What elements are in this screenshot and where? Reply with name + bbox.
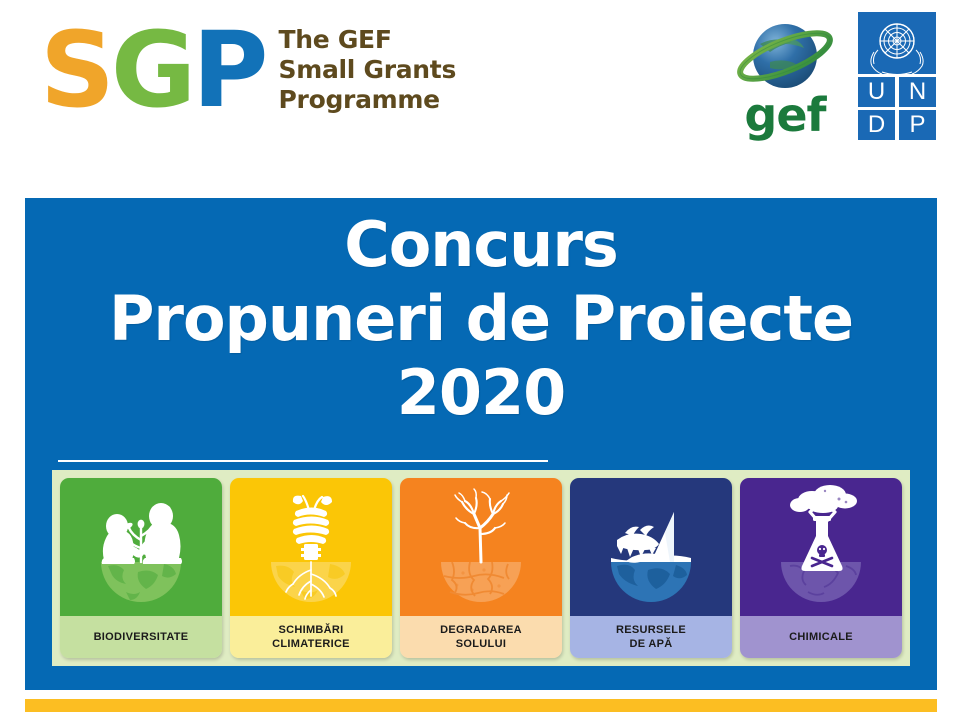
- page-header: SGP The GEF Small Grants Programme: [0, 0, 960, 198]
- sgp-logo-tagline: The GEF Small Grants Programme: [279, 25, 457, 115]
- card-artwork: [230, 478, 392, 616]
- undp-letter-p: P: [899, 110, 936, 140]
- focal-area-card-land-degradation[interactable]: DEGRADAREA SOLULUI: [400, 478, 562, 658]
- main-blue-panel: Concurs Propuneri de Proiecte 2020: [25, 198, 937, 690]
- card-artwork: [400, 478, 562, 616]
- gef-globe-icon: [730, 18, 840, 98]
- undp-logo: U N D P: [858, 12, 936, 140]
- sgp-letter-p: P: [192, 22, 264, 118]
- card-artwork: [570, 478, 732, 616]
- glacier-water-globe-icon: [570, 478, 732, 616]
- gef-wordmark: gef: [730, 92, 840, 138]
- page-title-line-3: 2020: [25, 356, 937, 430]
- bare-tree-cracked-soil-icon: [400, 478, 562, 616]
- un-emblem-icon: [858, 12, 936, 74]
- sgp-letter-g: G: [111, 22, 192, 118]
- sgp-letter-s: S: [40, 22, 111, 118]
- focal-areas-panel: BIODIVERSITATE: [52, 470, 910, 666]
- title-divider: [58, 460, 548, 462]
- card-label: SCHIMBĂRI CLIMATERICE: [230, 616, 392, 658]
- card-label: BIODIVERSITATE: [60, 616, 222, 658]
- card-artwork: [740, 478, 902, 616]
- undp-letter-u: U: [858, 77, 895, 107]
- focal-area-card-chemicals[interactable]: CHIMICALE: [740, 478, 902, 658]
- sgp-logo: SGP The GEF Small Grants Programme: [40, 22, 456, 118]
- page-title: Concurs Propuneri de Proiecte 2020: [25, 208, 937, 430]
- focal-areas-row: BIODIVERSITATE: [60, 478, 902, 658]
- card-label: DEGRADAREA SOLULUI: [400, 616, 562, 658]
- undp-emblem-panel: [858, 12, 936, 74]
- card-label: RESURSELE DE APĂ: [570, 616, 732, 658]
- undp-letter-d: D: [858, 110, 895, 140]
- footer-accent-bar: [25, 699, 937, 712]
- cfl-bulb-roots-icon: [230, 478, 392, 616]
- gef-logo: gef: [730, 18, 840, 140]
- focal-area-card-water-resources[interactable]: RESURSELE DE APĂ: [570, 478, 732, 658]
- sgp-logo-letters: SGP: [40, 22, 265, 118]
- page-title-line-1: Concurs: [25, 208, 937, 282]
- people-planting-tree-globe-icon: [60, 478, 222, 616]
- card-label: CHIMICALE: [740, 616, 902, 658]
- toxic-flask-smoke-globe-icon: [740, 478, 902, 616]
- focal-area-card-climate-change[interactable]: SCHIMBĂRI CLIMATERICE: [230, 478, 392, 658]
- page-title-line-2: Propuneri de Proiecte: [25, 282, 937, 356]
- focal-area-card-biodiversity[interactable]: BIODIVERSITATE: [60, 478, 222, 658]
- card-artwork: [60, 478, 222, 616]
- undp-letter-n: N: [899, 77, 936, 107]
